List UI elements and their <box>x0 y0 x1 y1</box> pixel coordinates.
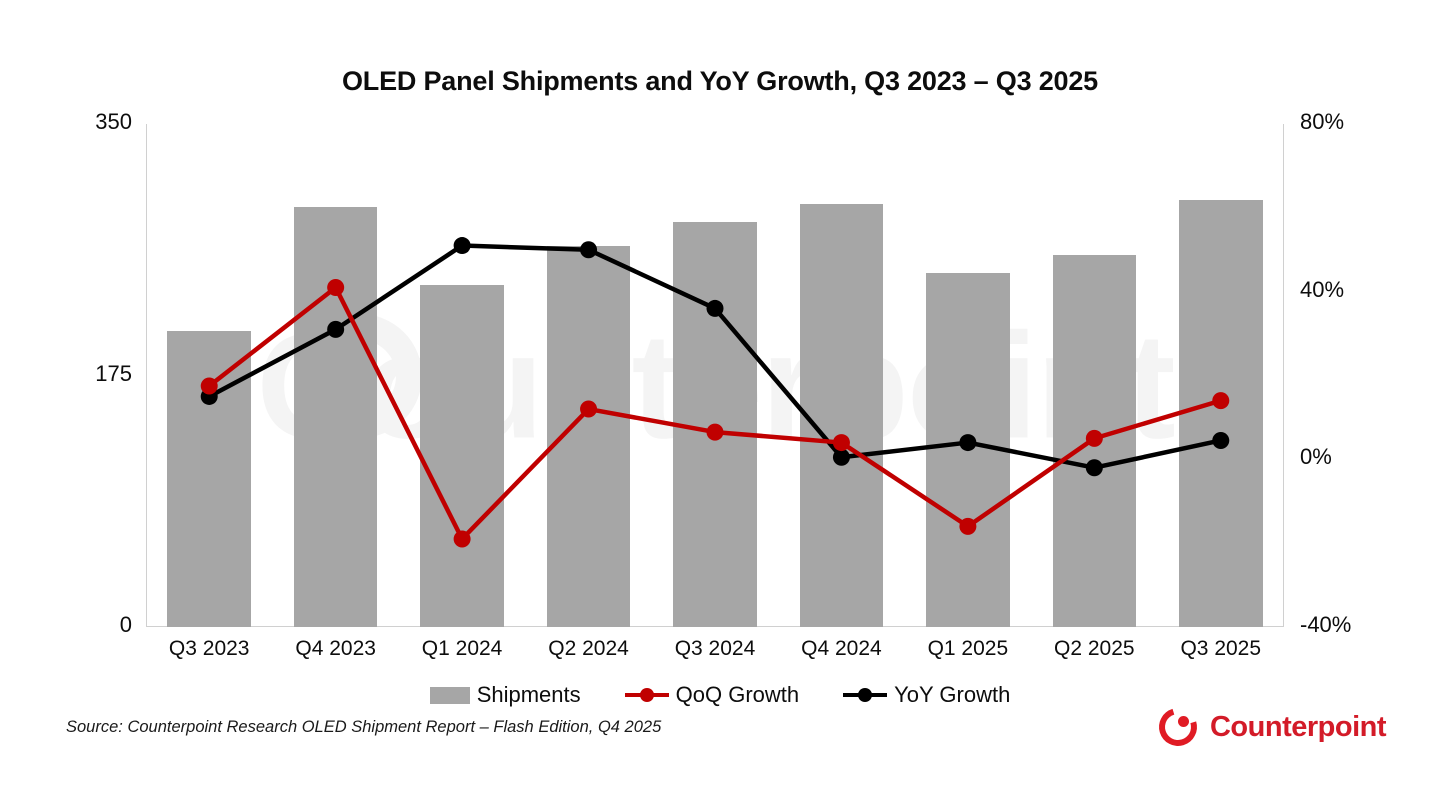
yoy-point-q4-2023 <box>327 321 344 338</box>
yoy-point-q2-2024 <box>580 241 597 258</box>
plot-area: Counterpoint <box>146 124 1284 627</box>
legend-item-yoy-growth[interactable]: YoY Growth <box>843 682 1010 708</box>
legend-swatch-line-icon <box>625 686 669 704</box>
counterpoint-logo: Counterpoint <box>1159 708 1386 746</box>
qoq-line <box>209 287 1221 538</box>
logo-dot-shape <box>1178 716 1189 727</box>
chart-title: OLED Panel Shipments and YoY Growth, Q3 … <box>0 66 1440 97</box>
yoy-point-q1-2024 <box>454 237 471 254</box>
legend-line-marker <box>640 688 654 702</box>
yoy-point-q2-2025 <box>1086 459 1103 476</box>
qoq-point-q1-2025 <box>959 518 976 535</box>
qoq-point-q3-2025 <box>1212 392 1229 409</box>
y-right-tick-0pct: 0% <box>1300 444 1420 470</box>
qoq-point-q1-2024 <box>454 530 471 547</box>
qoq-point-q3-2023 <box>201 377 218 394</box>
y-left-tick-350: 350 <box>12 109 132 135</box>
counterpoint-wordmark: Counterpoint <box>1210 711 1386 744</box>
x-tick-q3-2025: Q3 2025 <box>1158 637 1284 661</box>
y-right-tick-neg40pct: -40% <box>1300 612 1420 638</box>
x-tick-q4-2023: Q4 2023 <box>272 637 398 661</box>
qoq-point-q4-2023 <box>327 279 344 296</box>
source-note: Source: Counterpoint Research OLED Shipm… <box>66 718 661 737</box>
y-left-tick-0: 0 <box>12 612 132 638</box>
legend-item-shipments[interactable]: Shipments <box>430 682 581 708</box>
qoq-point-q4-2024 <box>833 434 850 451</box>
yoy-point-q4-2024 <box>833 449 850 466</box>
yoy-point-q3-2024 <box>707 300 724 317</box>
yoy-point-q1-2025 <box>959 434 976 451</box>
lines-layer <box>146 124 1284 627</box>
legend-item-qoq-growth[interactable]: QoQ Growth <box>625 682 799 708</box>
legend-label: YoY Growth <box>894 682 1010 708</box>
y-right-tick-40pct: 40% <box>1300 277 1420 303</box>
logo-ring-shape <box>1152 701 1203 752</box>
legend-swatch-bar-icon <box>430 687 470 704</box>
legend-label: QoQ Growth <box>676 682 799 708</box>
x-tick-q4-2024: Q4 2024 <box>778 637 904 661</box>
chart-container: OLED Panel Shipments and YoY Growth, Q3 … <box>0 0 1440 810</box>
y-right-tick-80pct: 80% <box>1300 109 1420 135</box>
x-tick-q2-2025: Q2 2025 <box>1031 637 1157 661</box>
qoq-point-q2-2025 <box>1086 430 1103 447</box>
chart-legend: ShipmentsQoQ GrowthYoY Growth <box>0 682 1440 708</box>
y-left-tick-175: 175 <box>12 361 132 387</box>
x-tick-q3-2023: Q3 2023 <box>146 637 272 661</box>
qoq-point-q2-2024 <box>580 401 597 418</box>
qoq-point-q3-2024 <box>707 424 724 441</box>
x-tick-q1-2024: Q1 2024 <box>399 637 525 661</box>
yoy-point-q3-2025 <box>1212 432 1229 449</box>
x-tick-q1-2025: Q1 2025 <box>905 637 1031 661</box>
legend-line-marker <box>858 688 872 702</box>
legend-label: Shipments <box>477 682 581 708</box>
x-tick-q2-2024: Q2 2024 <box>525 637 651 661</box>
x-tick-q3-2024: Q3 2024 <box>652 637 778 661</box>
counterpoint-logo-icon <box>1159 708 1197 746</box>
legend-swatch-line-icon <box>843 686 887 704</box>
